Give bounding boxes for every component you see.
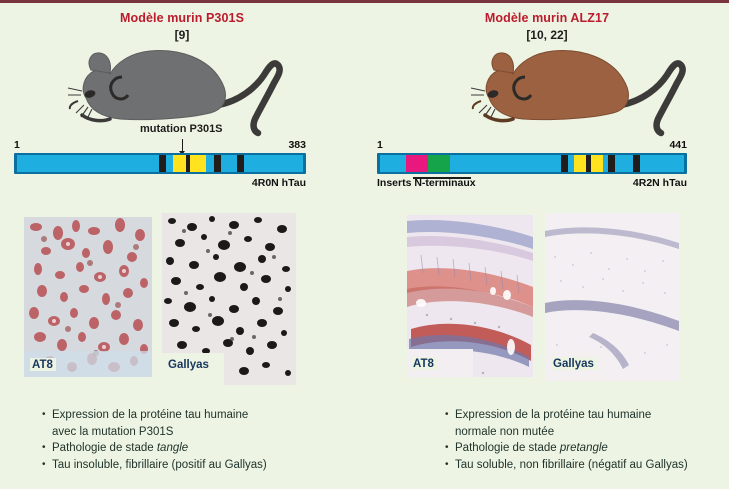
list-item-continuation: normale non mutée — [445, 424, 688, 441]
protein-start-label: 1 — [14, 139, 20, 151]
figure-root: Modèle murin P301S [9] 1 383 mutation P3… — [0, 0, 729, 486]
insert-caption-alz17: Inserts N-terminaux — [377, 177, 476, 189]
list-item: Tau soluble, non fibrillaire (négatif au… — [445, 457, 688, 474]
histology-at8-p301s — [24, 217, 152, 377]
histology-label-at8-alz17: AT8 — [411, 357, 437, 370]
list-item: Pathologie de stade tangle — [42, 440, 267, 457]
black-band-4 — [633, 155, 640, 172]
mouse-brown-icon — [453, 43, 693, 138]
bullet-list-p301s: Expression de la protéine tau humaine av… — [42, 407, 267, 473]
bullet-list-alz17: Expression de la protéine tau humaine no… — [445, 407, 688, 473]
black-band-3 — [214, 155, 221, 172]
yellow-band-1 — [574, 155, 586, 172]
list-item: Expression de la protéine tau humaine — [445, 407, 688, 424]
black-band-1 — [159, 155, 166, 172]
panel-p301s: Modèle murin P301S [9] 1 383 mutation P3… — [0, 3, 364, 489]
list-item-continuation: avec la mutation P301S — [42, 424, 267, 441]
mutation-label: mutation P301S — [140, 123, 223, 135]
histology-gallyas-alz17 — [545, 213, 679, 381]
black-band-1 — [561, 155, 568, 172]
isoform-caption-alz17: 4R2N hTau — [633, 177, 687, 189]
tau-bar-4r2n — [377, 153, 687, 174]
yellow-band-2 — [591, 155, 603, 172]
black-band-3 — [608, 155, 615, 172]
yellow-band-1 — [173, 155, 186, 172]
list-item: Expression de la protéine tau humaine — [42, 407, 267, 424]
list-item: Tau insoluble, fibrillaire (positif au G… — [42, 457, 267, 474]
tau-bar-4r0n — [14, 153, 306, 174]
list-item: Pathologie de stade pretangle — [445, 440, 688, 457]
histology-at8-alz17 — [407, 215, 533, 377]
magenta-insert-band — [406, 155, 428, 172]
black-band-4 — [237, 155, 244, 172]
panel-title-alz17: Modèle murin ALZ17 — [365, 11, 729, 25]
panel-references-p301s: [9] — [0, 28, 364, 42]
histology-label-gallyas-p301s: Gallyas — [166, 358, 212, 371]
protein-start-label: 1 — [377, 139, 383, 151]
histology-label-at8-p301s: AT8 — [30, 358, 56, 371]
histology-label-gallyas-alz17: Gallyas — [551, 357, 597, 370]
yellow-band-2 — [190, 155, 205, 172]
green-insert-band — [428, 155, 450, 172]
panel-title-p301s: Modèle murin P301S — [0, 11, 364, 25]
protein-end-label: 441 — [669, 139, 687, 151]
panel-references-alz17: [10, 22] — [365, 28, 729, 42]
isoform-caption-p301s: 4R0N hTau — [252, 177, 306, 189]
panel-alz17: Modèle murin ALZ17 [10, 22] 1 441 — [365, 3, 729, 489]
protein-end-label: 383 — [288, 139, 306, 151]
